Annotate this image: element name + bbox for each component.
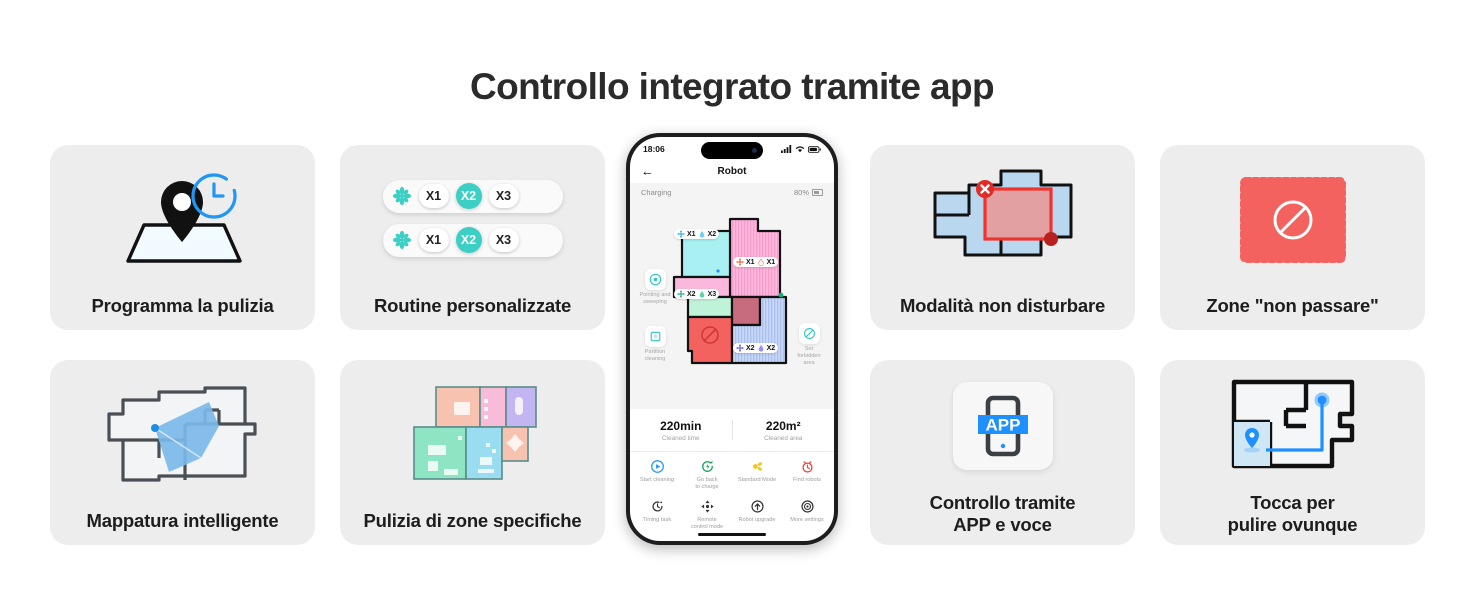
action-find-robots[interactable]: Find robots xyxy=(782,458,832,491)
feature-card-zone-cleaning[interactable]: Pulizia di zone specifiche xyxy=(340,360,605,545)
action-label: More settings xyxy=(789,517,825,524)
action-robot-upgrade[interactable]: Robot upgrade xyxy=(732,498,782,531)
caption-line-2: pulire ovunque xyxy=(1228,514,1358,536)
fan-icon xyxy=(392,230,412,250)
feature-card-caption: Programma la pulizia xyxy=(91,295,273,330)
suction-option-x1[interactable]: X1 xyxy=(419,184,449,208)
floorplan-lidar-scan-icon xyxy=(50,360,315,510)
robot-status-row: Charging 80% xyxy=(630,183,834,201)
forbidden-circle-icon xyxy=(799,323,820,344)
suction-option-x2[interactable]: X2 xyxy=(456,183,482,209)
floorplan-restricted-icon xyxy=(870,145,1135,295)
action-timing-task[interactable]: Timing task xyxy=(632,498,682,531)
recharge-icon xyxy=(700,458,715,475)
map-tool-label: Pointing and sweeping xyxy=(639,292,670,306)
dpad-icon xyxy=(700,498,715,515)
home-indicator xyxy=(698,533,766,536)
feature-card-app-voice-control[interactable]: APP Controllo tramite APP e voce xyxy=(870,360,1135,545)
phone-mockup: 18:06 ← Robot xyxy=(626,133,838,545)
suction-option-x3[interactable]: X3 xyxy=(489,184,519,208)
timer-icon xyxy=(650,498,665,515)
phone-screen: 18:06 ← Robot xyxy=(630,137,834,541)
feature-card-smart-mapping[interactable]: Mappatura intelligente xyxy=(50,360,315,545)
stat-cleaned-area: 220m² Cleaned area xyxy=(733,419,835,442)
feature-card-caption: Routine personalizzate xyxy=(374,295,571,330)
back-arrow-icon[interactable]: ← xyxy=(641,165,654,178)
colored-room-zones-icon xyxy=(340,360,605,510)
suction-option-x2[interactable]: X2 xyxy=(456,227,482,253)
map-tool-partition-cleaning[interactable]: Partition cleaning xyxy=(632,326,678,363)
room-tag-water: X3 xyxy=(708,291,717,298)
caption-line-2: APP e voce xyxy=(930,514,1076,536)
fan-icon xyxy=(677,230,685,238)
action-label: Find robots xyxy=(792,477,822,484)
water-drop-icon xyxy=(757,258,765,266)
room-tag-suction: X2 xyxy=(746,345,755,352)
feature-card-no-go-zone[interactable]: Zone "non passare" xyxy=(1160,145,1425,330)
suction-pill-row-2[interactable]: X1 X2 X3 xyxy=(383,224,563,257)
action-more-settings[interactable]: More settings xyxy=(782,498,832,531)
feature-card-do-not-disturb[interactable]: Modalità non disturbare xyxy=(870,145,1135,330)
fan-icon xyxy=(736,258,744,266)
feature-card-caption: Modalità non disturbare xyxy=(900,295,1105,330)
suction-option-x3[interactable]: X3 xyxy=(489,228,519,252)
play-circle-icon xyxy=(650,458,665,475)
upgrade-icon xyxy=(750,498,765,515)
suction-mode-icon xyxy=(750,458,765,475)
battery-icon xyxy=(812,189,823,196)
caption-line-1: Tocca per xyxy=(1228,492,1358,514)
action-grid: Start cleaning Go backto charge Standard… xyxy=(630,452,834,538)
room-tag-pink[interactable]: X1 X1 xyxy=(733,257,778,267)
page-title: Controllo integrato tramite app xyxy=(0,66,1464,108)
room-tag-suction: X1 xyxy=(746,259,755,266)
map-tool-label: Partition cleaning xyxy=(645,349,666,363)
svg-text:APP: APP xyxy=(985,416,1020,435)
feature-card-caption: Controllo tramite APP e voce xyxy=(930,492,1076,545)
action-start-cleaning[interactable]: Start cleaning xyxy=(632,458,682,491)
find-robot-icon xyxy=(800,458,815,475)
map-pin-clock-icon xyxy=(50,145,315,295)
stat-label: Cleaned area xyxy=(733,435,835,442)
action-label: Robot upgrade xyxy=(737,517,776,524)
action-label: Standard Mode xyxy=(737,477,777,484)
water-drop-icon xyxy=(757,344,765,352)
room-tag-water: X2 xyxy=(708,231,717,238)
room-tag-suction: X2 xyxy=(687,291,696,298)
action-go-back-to-charge[interactable]: Go backto charge xyxy=(682,458,732,491)
room-tag-cyan[interactable]: X1 X2 xyxy=(674,229,719,239)
room-tag-water: X1 xyxy=(767,259,776,266)
feature-card-caption: Zone "non passare" xyxy=(1206,295,1378,330)
no-entry-zone-icon xyxy=(1160,145,1425,295)
status-bar-time: 18:06 xyxy=(643,144,665,154)
stat-value: 220m² xyxy=(733,419,835,433)
partition-square-icon xyxy=(645,326,666,347)
stat-value: 220min xyxy=(630,419,732,433)
map-tool-label: Set forbidden area xyxy=(797,346,820,367)
room-tag-water: X2 xyxy=(767,345,776,352)
room-tag-green[interactable]: X2 X3 xyxy=(674,289,719,299)
feature-card-tap-to-clean[interactable]: Tocca per pulire ovunque xyxy=(1160,360,1425,545)
action-label: Timing task xyxy=(642,517,672,524)
suction-pill-row-1[interactable]: X1 X2 X3 xyxy=(383,180,563,213)
cellular-signal-icon xyxy=(781,145,792,153)
room-tag-suction: X1 xyxy=(687,231,696,238)
wifi-icon xyxy=(795,145,805,153)
dynamic-island xyxy=(701,142,763,159)
action-label: Go backto charge xyxy=(694,477,719,491)
feature-card-caption: Pulizia di zone specifiche xyxy=(364,510,582,545)
action-remote-control-mode[interactable]: Remotecontrol mode xyxy=(682,498,732,531)
robot-map[interactable]: X1 X2 X1 X1 X2 X3 X2 X2 xyxy=(630,201,834,409)
caption-line-1: Controllo tramite xyxy=(930,492,1076,514)
map-tool-pointing-and-sweeping[interactable]: Pointing and sweeping xyxy=(632,269,678,306)
feature-card-caption: Mappatura intelligente xyxy=(87,510,279,545)
phone-nav-bar: ← Robot xyxy=(630,159,834,183)
action-label: Remotecontrol mode xyxy=(690,517,724,531)
water-drop-icon xyxy=(698,290,706,298)
fan-icon xyxy=(677,290,685,298)
stat-label: Cleaned time xyxy=(630,435,732,442)
nav-title: Robot xyxy=(718,166,747,177)
fan-icon xyxy=(736,344,744,352)
room-tag-blue[interactable]: X2 X2 xyxy=(733,343,778,353)
action-standard-mode[interactable]: Standard Mode xyxy=(732,458,782,491)
feature-card-caption: Tocca per pulire ovunque xyxy=(1228,492,1358,545)
target-point-icon xyxy=(645,269,666,290)
battery-icon xyxy=(808,146,821,153)
robot-status-text: Charging xyxy=(641,188,671,197)
water-drop-icon xyxy=(698,230,706,238)
cleaning-stats: 220min Cleaned time 220m² Cleaned area xyxy=(630,409,834,452)
floorplan-tap-route-icon xyxy=(1160,360,1425,492)
battery-percent: 80% xyxy=(794,188,809,197)
feature-card-schedule[interactable]: Programma la pulizia xyxy=(50,145,315,330)
fan-icon xyxy=(392,186,412,206)
map-tool-set-forbidden-area[interactable]: Set forbidden area xyxy=(786,323,832,367)
action-label: Start cleaning xyxy=(639,477,675,484)
settings-gear-icon xyxy=(800,498,815,515)
suction-level-pills-icon: X1 X2 X3 X1 X2 xyxy=(340,145,605,295)
suction-option-x1[interactable]: X1 xyxy=(419,228,449,252)
smartphone-app-icon: APP xyxy=(870,360,1135,492)
phone-status-bar: 18:06 xyxy=(630,137,834,159)
stat-cleaned-time: 220min Cleaned time xyxy=(630,419,732,442)
feature-card-routine[interactable]: X1 X2 X3 X1 X2 xyxy=(340,145,605,330)
